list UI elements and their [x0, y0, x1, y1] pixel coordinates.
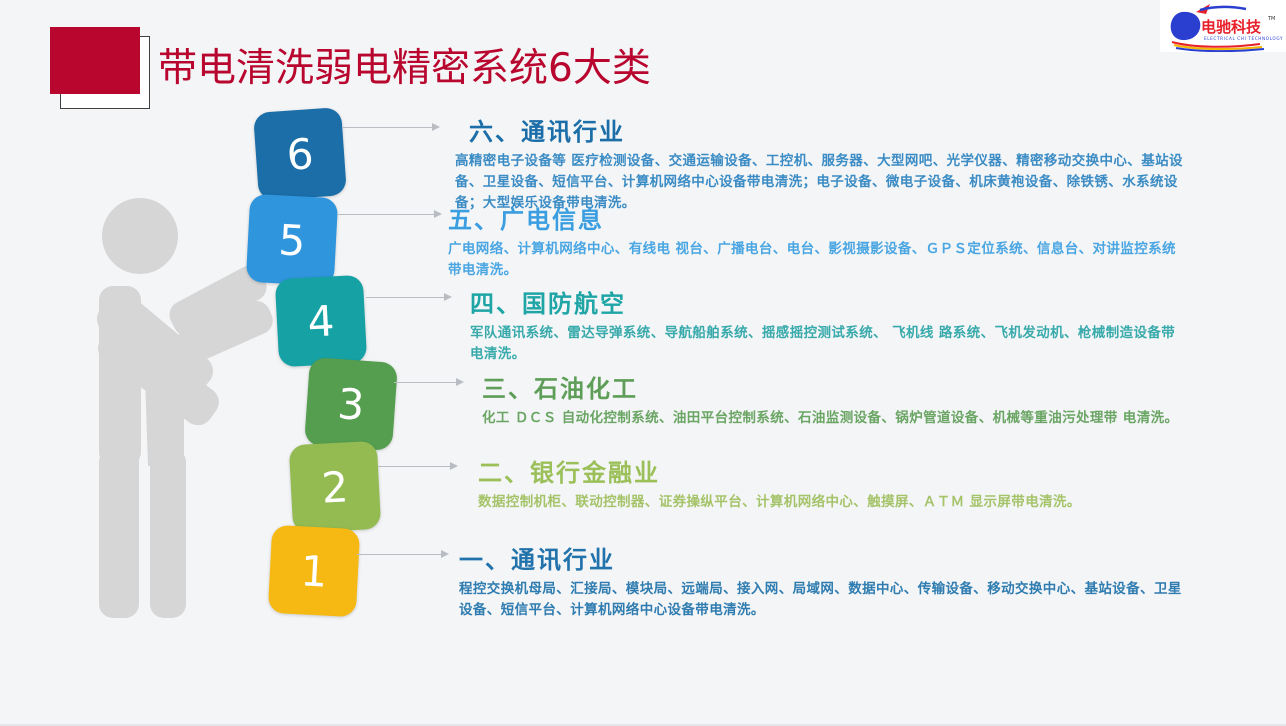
- connector-arrowhead-3: [456, 378, 464, 386]
- section-5-heading: 五、广电信息: [448, 200, 1188, 235]
- connector-line-6: [343, 127, 435, 128]
- section-4: 四、国防航空 军队通讯系统、雷达导弹系统、导航船舶系统、摇感摇控测试系统、 飞机…: [470, 284, 1188, 365]
- connector-arrowhead-5: [434, 210, 442, 218]
- block-number-6: 6: [285, 129, 315, 180]
- section-2: 二、银行金融业 数据控制机柜、联动控制器、证券操纵平台、计算机网络中心、触摸屏、…: [478, 453, 1188, 513]
- section-3-heading: 三、石油化工: [482, 369, 1188, 404]
- slide-canvas: 电驰科技 ELECTRICAL CHI TECHNOLOGY TM 带电清洗弱电…: [0, 0, 1286, 726]
- logo-chinese-text: 电驰科技: [1201, 18, 1262, 36]
- block-number-1: 1: [299, 546, 328, 596]
- block-number-4: 4: [306, 296, 335, 346]
- stack-block-3[interactable]: 3: [304, 357, 398, 451]
- connector-arrowhead-6: [432, 123, 440, 131]
- connector-arrowhead-2: [450, 462, 458, 470]
- section-3-body: 化工 ＤＣＳ 自动化控制系统、油田平台控制系统、石油监测设备、锅炉管道设备、机械…: [482, 408, 1188, 429]
- stack-block-1[interactable]: 1: [268, 525, 360, 617]
- section-6-heading: 六、通讯行业: [469, 112, 1185, 147]
- section-2-heading: 二、银行金融业: [478, 453, 1188, 488]
- connector-arrowhead-1: [441, 550, 449, 558]
- logo-graphic: 电驰科技 ELECTRICAL CHI TECHNOLOGY TM: [1160, 0, 1286, 52]
- connector-line-2: [378, 466, 453, 467]
- stack-block-2[interactable]: 2: [289, 441, 381, 533]
- section-1-heading: 一、通讯行业: [459, 540, 1188, 575]
- stack-block-4[interactable]: 4: [275, 275, 367, 367]
- stack-block-5[interactable]: 5: [246, 194, 338, 286]
- block-number-3: 3: [336, 379, 366, 430]
- block-number-2: 2: [320, 462, 349, 512]
- title-accent-box: [50, 27, 140, 94]
- stack-block-6[interactable]: 6: [253, 107, 347, 201]
- section-2-body: 数据控制机柜、联动控制器、证券操纵平台、计算机网络中心、触摸屏、ＡＴＭ 显示屏带…: [478, 492, 1188, 513]
- logo-english-text: ELECTRICAL CHI TECHNOLOGY: [1204, 36, 1283, 41]
- section-6: 六、通讯行业 高精密电子设备等 医疗检测设备、交通运输设备、工控机、服务器、大型…: [455, 112, 1185, 214]
- company-logo: 电驰科技 ELECTRICAL CHI TECHNOLOGY TM: [1160, 0, 1286, 52]
- connector-line-5: [338, 214, 437, 215]
- block-number-5: 5: [277, 215, 306, 265]
- section-4-body: 军队通讯系统、雷达导弹系统、导航船舶系统、摇感摇控测试系统、 飞机线 路系统、飞…: [470, 323, 1188, 365]
- section-4-heading: 四、国防航空: [470, 284, 1188, 319]
- section-5: 五、广电信息 广电网络、计算机网络中心、有线电 视台、广播电台、电台、影视摄影设…: [448, 200, 1188, 281]
- connector-arrowhead-4: [444, 293, 452, 301]
- connector-line-1: [357, 554, 444, 555]
- section-1: 一、通讯行业 程控交换机母局、汇接局、模块局、远端局、接入网、局域网、数据中心、…: [459, 540, 1188, 621]
- logo-trademark-text: TM: [1267, 16, 1275, 22]
- section-5-body: 广电网络、计算机网络中心、有线电 视台、广播电台、电台、影视摄影设备、ＧＰＳ定位…: [448, 239, 1188, 281]
- section-1-body: 程控交换机母局、汇接局、模块局、远端局、接入网、局域网、数据中心、传输设备、移动…: [459, 579, 1188, 621]
- section-3: 三、石油化工 化工 ＤＣＳ 自动化控制系统、油田平台控制系统、石油监测设备、锅炉…: [482, 369, 1188, 429]
- page-title: 带电清洗弱电精密系统6大类: [158, 37, 651, 93]
- connector-line-4: [366, 297, 447, 298]
- connector-line-3: [394, 382, 459, 383]
